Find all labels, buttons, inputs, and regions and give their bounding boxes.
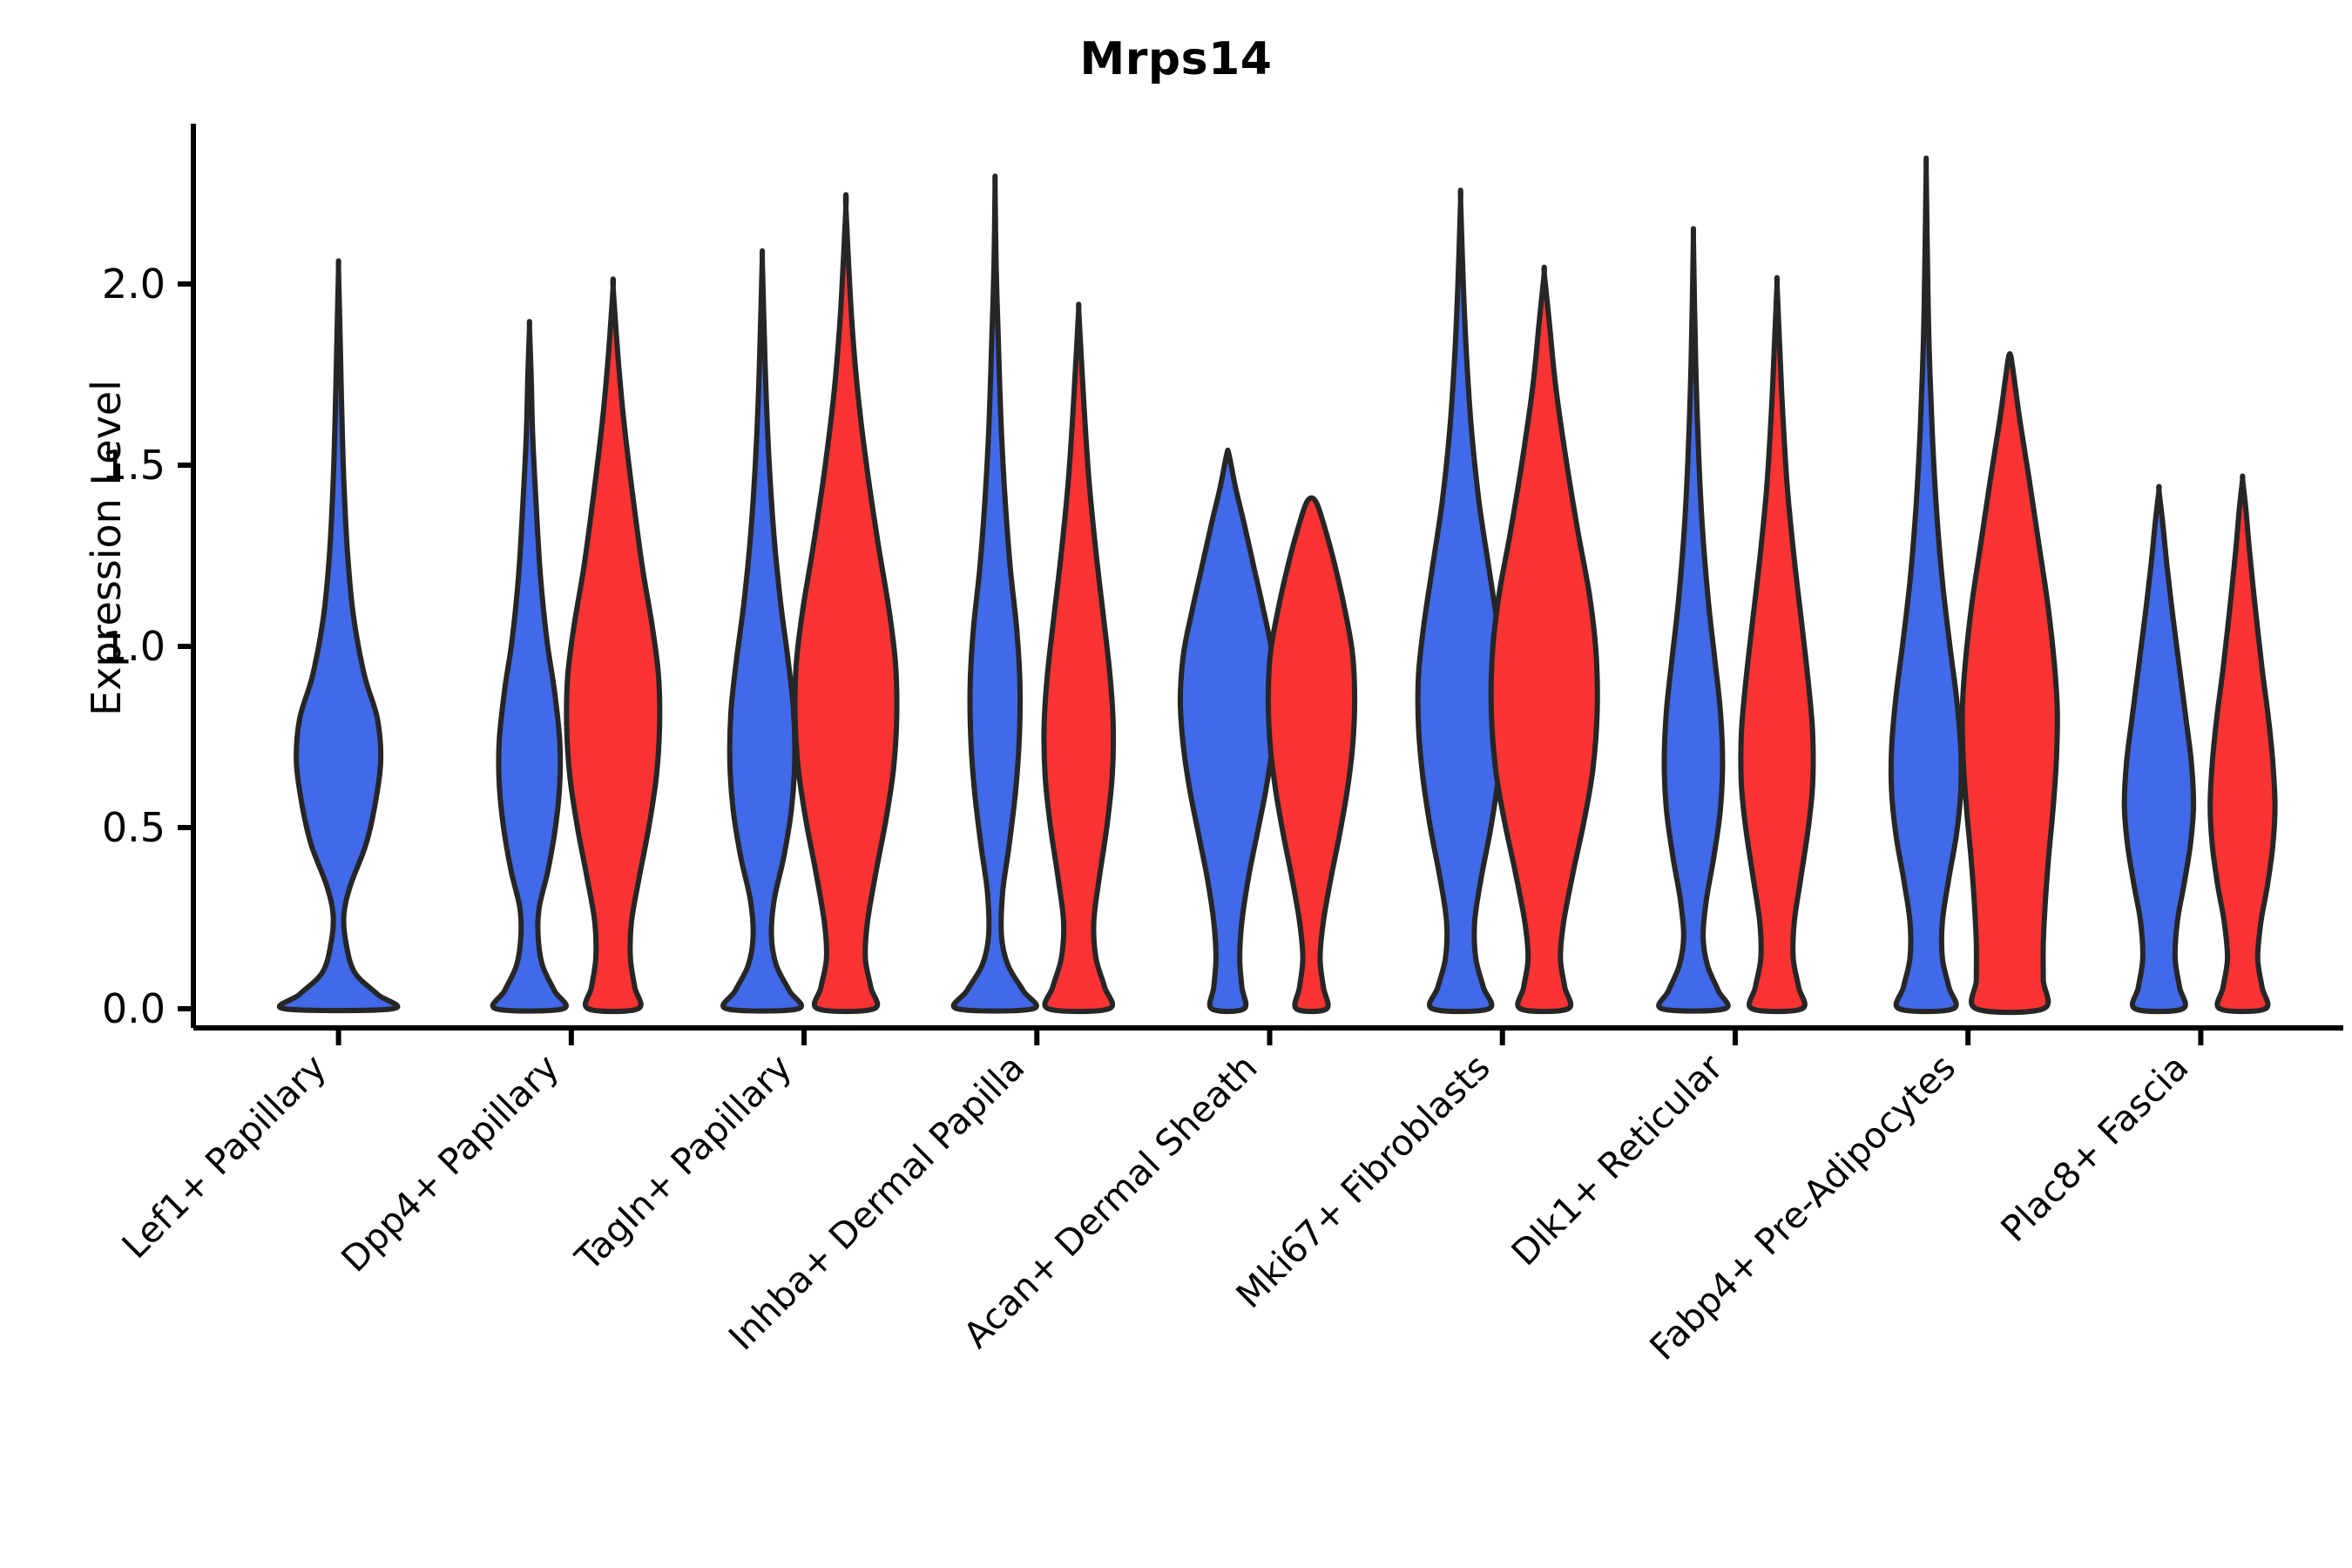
x-tick-label-6: Dlk1+ Reticular [1504, 1046, 1731, 1274]
violin-blue-8 [2125, 486, 2193, 1011]
y-tick-label: 2.0 [102, 260, 166, 308]
violin-red-4 [1268, 497, 1355, 1011]
violins-layer [280, 158, 2275, 1012]
y-tick-label: 1.0 [102, 623, 166, 670]
x-axis-ticks: Lef1+ PapillaryDpp4+ PapillaryTagIn+ Pap… [114, 1028, 2201, 1369]
violin-red-2 [795, 195, 897, 1012]
violin-plot-figure: Mrps14 Expression Level 0.00.51.01.52.0 … [0, 0, 2352, 1568]
violin-blue-7 [1891, 158, 1962, 1011]
violin-blue-3 [954, 176, 1037, 1010]
x-tick-label-5: Mki67+ Fibroblasts [1228, 1046, 1498, 1316]
x-tick-label-1: Dpp4+ Papillary [334, 1046, 567, 1280]
x-tick-label-0: Lef1+ Papillary [114, 1046, 335, 1267]
y-tick-label: 0.5 [102, 804, 166, 851]
y-tick-label: 0.0 [102, 985, 166, 1032]
violin-red-5 [1491, 267, 1598, 1011]
violin-red-3 [1044, 304, 1113, 1011]
violin-red-1 [566, 279, 659, 1011]
y-tick-label: 1.5 [102, 442, 166, 489]
violin-blue-2 [723, 251, 801, 1011]
violin-blue-1 [493, 321, 566, 1010]
violin-blue-0 [280, 260, 398, 1010]
violin-blue-6 [1659, 229, 1728, 1011]
x-tick-label-8: Plac8+ Fascia [1993, 1046, 2197, 1250]
violin-red-6 [1740, 278, 1813, 1011]
violin-blue-5 [1418, 190, 1504, 1011]
plot-canvas: 0.00.51.01.52.0 Lef1+ PapillaryDpp4+ Pap… [0, 0, 2352, 1568]
y-axis-ticks: 0.00.51.01.52.0 [102, 260, 193, 1032]
violin-red-8 [2210, 476, 2274, 1011]
violin-blue-4 [1180, 450, 1275, 1011]
violin-red-7 [1962, 354, 2057, 1012]
x-tick-label-2: TagIn+ Papillary [567, 1046, 801, 1280]
